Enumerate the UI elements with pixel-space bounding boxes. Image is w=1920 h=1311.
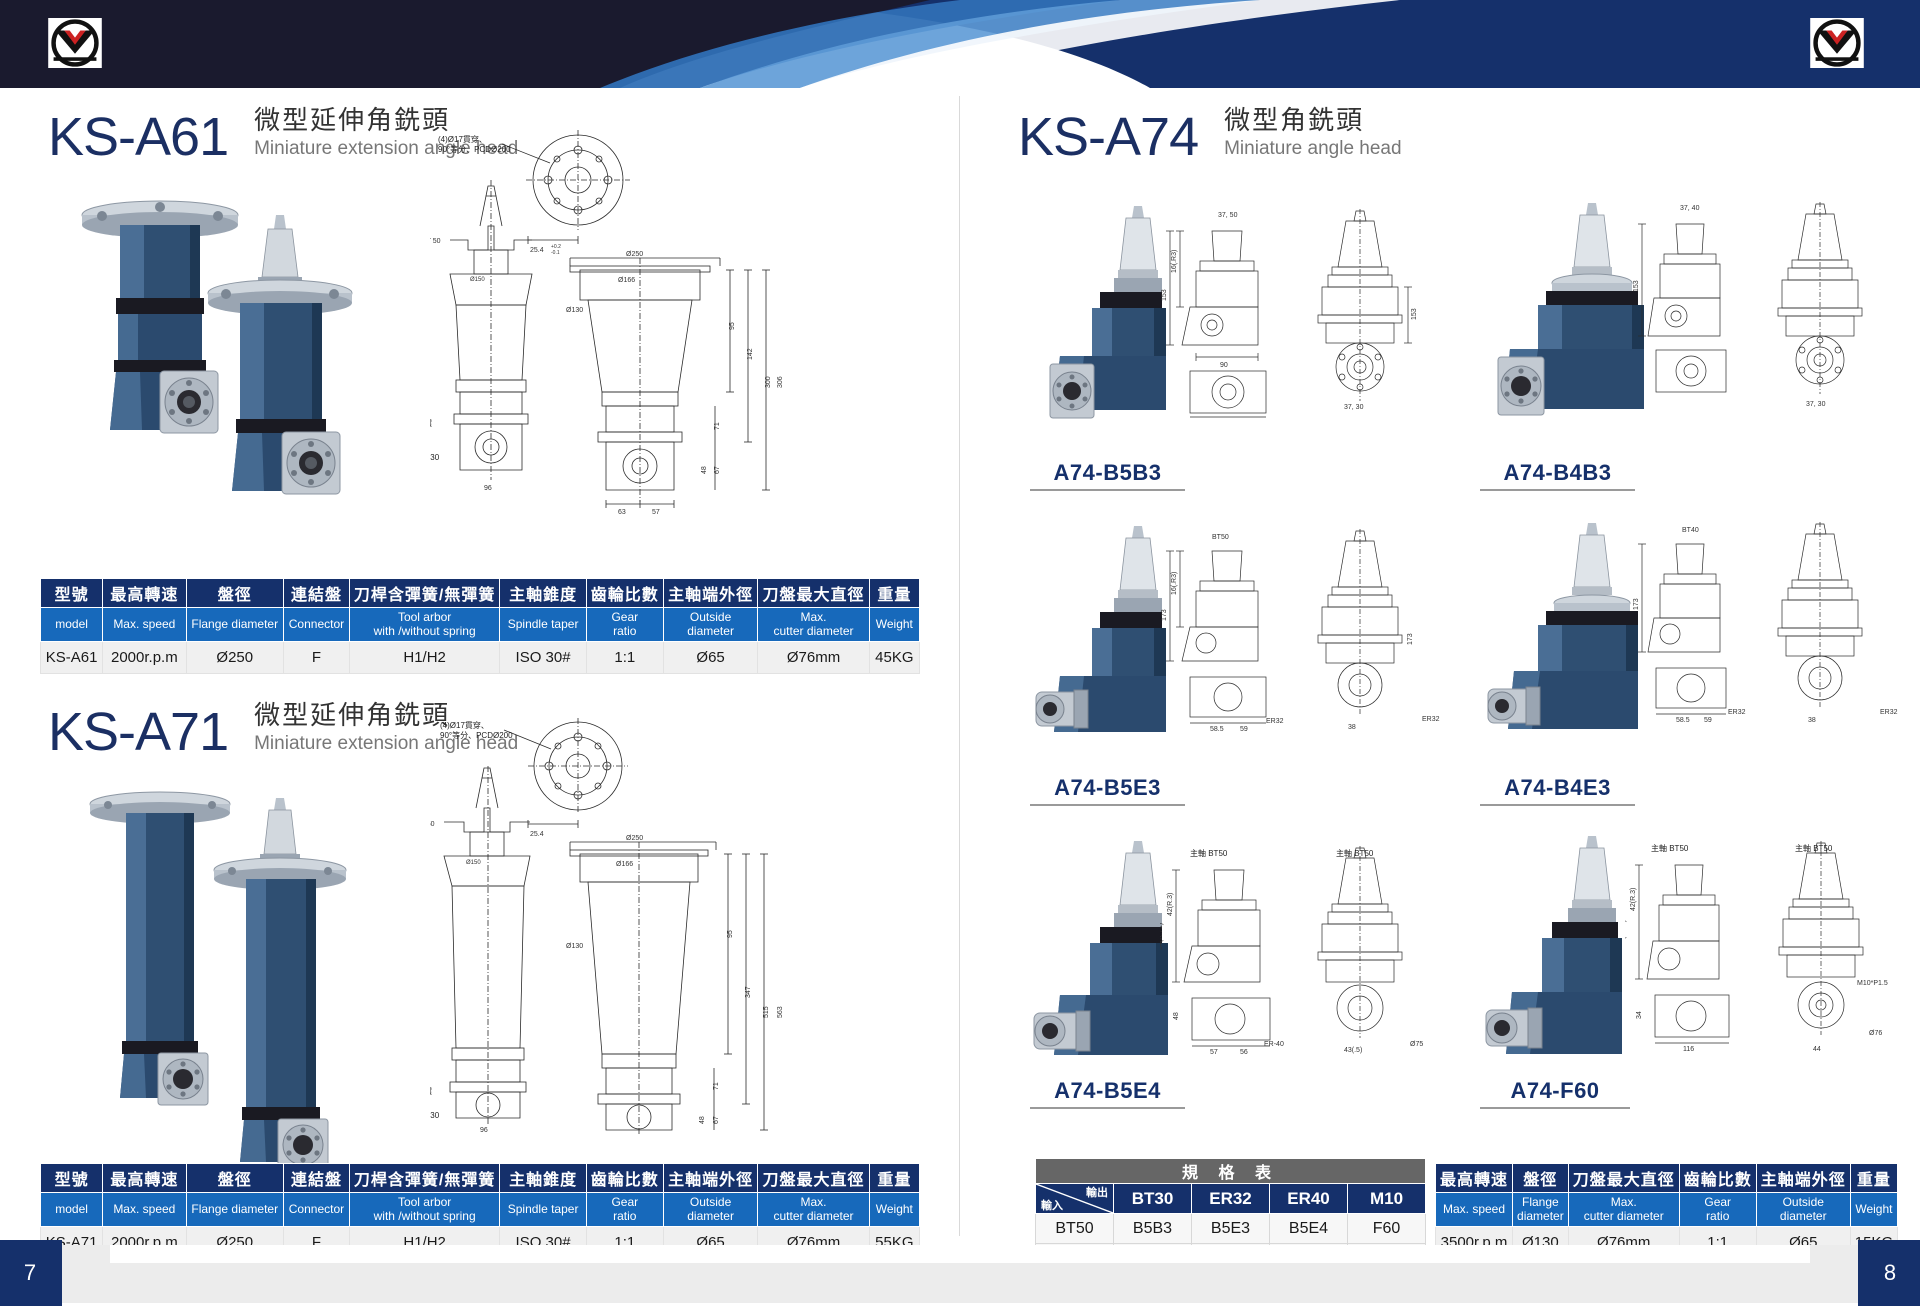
- spec-row-headers-cn: 型號 最高轉速 盤徑 連結盤 刀桿含彈簧/無彈簧 主軸錐度 齒輪比數 主軸端外徑…: [41, 1164, 920, 1193]
- svg-text:54(R.71): 54(R.71): [1625, 920, 1627, 947]
- th-en-weight: Weight: [1850, 1193, 1897, 1227]
- svg-text:563: 563: [777, 1006, 784, 1018]
- matrix-title-row: 規 格 表: [1036, 1159, 1426, 1184]
- svg-text:37, 30: 37, 30: [1344, 404, 1364, 411]
- th-cn-toolarbor: 刀桿含彈簧/無彈簧: [349, 1164, 499, 1193]
- spec-row-headers-en: model Max. speed Flange diameter Connect…: [41, 608, 920, 642]
- spec-row-headers-cn: 型號 最高轉速 盤徑 連結盤 刀桿含彈簧/無彈簧 主軸錐度 齒輪比數 主軸端外徑…: [41, 579, 920, 608]
- chevron-logo-icon: [48, 18, 102, 68]
- svg-text:BT50: BT50: [1212, 534, 1229, 541]
- svg-text:153: 153: [1161, 289, 1168, 301]
- svg-text:主軸 BT50: 主軸 BT50: [1336, 848, 1374, 858]
- spec-table-ks-a61: 型號 最高轉速 盤徑 連結盤 刀桿含彈簧/無彈簧 主軸錐度 齒輪比數 主軸端外徑…: [40, 578, 920, 674]
- svg-text:37, 40: 37, 40: [1680, 205, 1700, 212]
- figure-ks-a71-photos: [40, 780, 440, 1170]
- th-en-taper: Spindle taper: [500, 1193, 586, 1227]
- svg-text:(4)Ø17貫穿、: (4)Ø17貫穿、: [440, 720, 489, 730]
- figure-ks-a61-drawings: (4)Ø17貫穿、 90°等分、PCDØ200 25.4 +0.2 -0.1: [430, 130, 840, 550]
- svg-text:59: 59: [1704, 717, 1712, 724]
- matrix-cell: B5E4: [1270, 1214, 1348, 1244]
- th-en-connector: Connector: [283, 1193, 349, 1227]
- svg-text:38: 38: [1348, 724, 1356, 731]
- matrix-corner-input: 輸入: [1041, 1197, 1063, 1213]
- svg-text:BT40: BT40: [1682, 527, 1699, 534]
- th-cn-weight: 重量: [869, 1164, 919, 1193]
- matrix-title: 規 格 表: [1036, 1159, 1426, 1184]
- page-divider: [959, 96, 960, 1236]
- product-code: KS-A71: [48, 705, 228, 759]
- matrix-header-row: 輸出 輸入 BT30 ER32 ER40 M10: [1036, 1184, 1426, 1214]
- footer-white-band: [110, 1245, 1810, 1263]
- th-cn-model: 型號: [41, 1164, 103, 1193]
- note-hole-1: (4)Ø17貫穿、: [438, 134, 487, 144]
- svg-text:56: 56: [1240, 1049, 1248, 1056]
- spec-row-headers-en: Max. speed Flange diameter Max. cutter d…: [1436, 1193, 1898, 1227]
- th-en-cutterdia: Max. cutter diameter: [758, 608, 869, 642]
- svg-text:ER-40: ER-40: [1264, 1041, 1284, 1048]
- svg-text:347: 347: [745, 986, 752, 998]
- brand-logo-right: [1810, 18, 1864, 68]
- th-cn-maxspeed: 最高轉速: [1436, 1164, 1513, 1193]
- svg-text:306: 306: [777, 376, 784, 388]
- svg-text:67: 67: [714, 466, 721, 474]
- th-cn-connector: 連結盤: [283, 579, 349, 608]
- svg-text:M10*P1.5: M10*P1.5: [1857, 980, 1888, 987]
- svg-text:37, 30: 37, 30: [1806, 401, 1826, 408]
- th-cn-flange: 盤徑: [1513, 1164, 1569, 1193]
- svg-text:173: 173: [1161, 609, 1168, 621]
- svg-text:34: 34: [1636, 1011, 1643, 1019]
- svg-text:42(R.3): 42(R.3): [1630, 888, 1637, 911]
- svg-text:Ø76: Ø76: [1869, 1030, 1882, 1037]
- svg-text:90°等分、PCDØ200: 90°等分、PCDØ200: [440, 730, 513, 740]
- page-number-right: 8: [1858, 1240, 1920, 1306]
- svg-text:59: 59: [1240, 726, 1248, 733]
- svg-text:58.5: 58.5: [1676, 717, 1690, 724]
- th-en-toolarbor: Tool arbor with /without spring: [349, 608, 499, 642]
- th-en-maxspeed: Max. speed: [103, 1193, 186, 1227]
- th-en-flange: Flange diameter: [186, 1193, 283, 1227]
- th-en-model: model: [41, 608, 103, 642]
- td-connector: F: [283, 642, 349, 674]
- td-outside: Ø65: [663, 642, 758, 674]
- td-flange: Ø250: [186, 642, 283, 674]
- svg-text:-0.1: -0.1: [551, 250, 560, 256]
- svg-text:300: 300: [765, 376, 772, 388]
- product-code: KS-A74: [1018, 110, 1198, 164]
- matrix-cell: B5B3: [1114, 1214, 1192, 1244]
- svg-text:57: 57: [652, 509, 660, 516]
- svg-text:16(.R3): 16(.R3): [1171, 250, 1178, 273]
- svg-text:Ø75: Ø75: [1410, 1041, 1423, 1048]
- th-en-connector: Connector: [283, 608, 349, 642]
- th-cn-toolarbor: 刀桿含彈簧/無彈簧: [349, 579, 499, 608]
- svg-text:主軸BT 30: 主軸BT 30: [430, 1110, 440, 1120]
- matrix-col-er40: ER40: [1270, 1184, 1348, 1214]
- svg-text:刻度環: 刻度環: [430, 1086, 432, 1096]
- th-cn-gearratio: 齒輪比數: [586, 1164, 663, 1193]
- svg-text:Ø166: Ø166: [616, 861, 633, 868]
- th-en-model: model: [41, 1193, 103, 1227]
- th-en-gearratio: Gear ratio: [586, 1193, 663, 1227]
- matrix-corner-output: 輸出: [1086, 1184, 1108, 1200]
- spec-row-headers-cn: 最高轉速 盤徑 刀盤最大直徑 齒輪比數 主軸端外徑 重量: [1436, 1164, 1898, 1193]
- product-name-cn: 微型角銑頭: [1224, 105, 1401, 136]
- figure-a74-b5b3-drawings: 37, 50 16(.R3) 153 90 153 37, 30: [1160, 205, 1485, 420]
- product-code: KS-A61: [48, 110, 228, 164]
- svg-text:Ø130: Ø130: [566, 307, 583, 314]
- svg-text:43(.5): 43(.5): [1344, 1047, 1362, 1054]
- th-en-gearratio: Gear ratio: [586, 608, 663, 642]
- svg-text:Ø150: Ø150: [466, 860, 481, 866]
- svg-text:48: 48: [701, 466, 708, 474]
- svg-text:BT 50: BT 50: [430, 238, 441, 245]
- svg-text:173: 173: [1633, 598, 1640, 610]
- figure-a74-f60-drawings: 主軸 BT50 42(R.3) 54(R.71) 116 34 主軸 BT50 …: [1625, 835, 1920, 1065]
- matrix-row-bt50: BT50 B5B3 B5E3 B5E4 F60: [1036, 1214, 1426, 1244]
- th-en-weight: Weight: [869, 608, 919, 642]
- matrix-corner-cell: 輸出 輸入: [1036, 1184, 1114, 1214]
- spec-row-headers-en: model Max. speed Flange diameter Connect…: [41, 1193, 920, 1227]
- svg-text:BT 50: BT 50: [430, 821, 435, 828]
- th-cn-flange: 盤徑: [186, 1164, 283, 1193]
- variant-label-a74-b5e3: A74-B5E3: [1030, 775, 1185, 809]
- svg-text:16(.R3): 16(.R3): [1171, 572, 1178, 595]
- svg-text:42(R.3): 42(R.3): [1167, 893, 1174, 916]
- svg-text:48: 48: [1173, 1012, 1180, 1020]
- figure-a74-b4e3-drawings: BT40 173 58.5 59 ER32 38 ER32: [1630, 520, 1920, 740]
- th-cn-outside: 主軸端外徑: [1756, 1164, 1850, 1193]
- figure-a74-b5e4-drawings: 主軸 BT50 42(R.3) 54(R.71) 57 56 ER-40 48 …: [1160, 840, 1485, 1065]
- th-en-cutterdia: Max. cutter diameter: [758, 1193, 869, 1227]
- svg-text:96: 96: [484, 485, 492, 492]
- th-cn-weight: 重量: [1850, 1164, 1897, 1193]
- td-cutterdia: Ø76mm: [758, 642, 869, 674]
- th-cn-cutterdia: 刀盤最大直徑: [758, 579, 869, 608]
- svg-text:153: 153: [1633, 280, 1640, 292]
- variant-label-a74-b4e3: A74-B4E3: [1480, 775, 1635, 809]
- svg-text:116: 116: [1683, 1046, 1694, 1053]
- svg-text:主軸 BT50: 主軸 BT50: [1190, 848, 1228, 858]
- th-en-cutterdia: Max. cutter diameter: [1568, 1193, 1679, 1227]
- td-taper: ISO 30#: [500, 642, 586, 674]
- td-model: KS-A61: [41, 642, 103, 674]
- svg-text:71: 71: [713, 1082, 720, 1090]
- th-en-gearratio: Gear ratio: [1679, 1193, 1756, 1227]
- svg-text:63: 63: [618, 509, 626, 516]
- td-toolarbor: H1/H2: [349, 642, 499, 674]
- svg-text:173: 173: [1407, 633, 1414, 645]
- note-hole-2: 90°等分、PCDØ200: [438, 144, 511, 154]
- th-cn-maxspeed: 最高轉速: [103, 1164, 186, 1193]
- variant-label-a74-b5b3: A74-B5B3: [1030, 460, 1185, 494]
- matrix-col-m10: M10: [1348, 1184, 1426, 1214]
- page-number-left: 7: [0, 1240, 62, 1306]
- figure-a74-b5e3-drawings: BT50 16(.R3) 173 58.5 59 ER32 173 38 ER3…: [1160, 525, 1485, 740]
- svg-text:Ø166: Ø166: [618, 277, 635, 284]
- svg-text:ER32: ER32: [1422, 716, 1440, 723]
- td-gearratio: 1:1: [586, 642, 663, 674]
- matrix-col-bt30: BT30: [1114, 1184, 1192, 1214]
- svg-text:Ø250: Ø250: [626, 251, 643, 258]
- svg-text:67: 67: [713, 1116, 720, 1124]
- th-cn-outside: 主軸端外徑: [663, 579, 758, 608]
- th-en-outside: Outside diameter: [663, 1193, 758, 1227]
- th-cn-taper: 主軸錐度: [500, 1164, 586, 1193]
- th-cn-flange: 盤徑: [186, 579, 283, 608]
- variant-label-a74-b4b3: A74-B4B3: [1480, 460, 1635, 494]
- th-en-flange: Flange diameter: [186, 608, 283, 642]
- svg-text:90: 90: [1220, 362, 1228, 369]
- th-cn-model: 型號: [41, 579, 103, 608]
- th-cn-maxspeed: 最高轉速: [103, 579, 186, 608]
- svg-text:44: 44: [1813, 1046, 1821, 1053]
- svg-text:Ø250: Ø250: [626, 835, 643, 842]
- catalog-page: KS-A61 微型延伸角銑頭 Miniature extension angle…: [0, 0, 1920, 1311]
- svg-text:95: 95: [727, 930, 734, 938]
- svg-text:Ø130: Ø130: [566, 943, 583, 950]
- top-banner: [0, 0, 1920, 88]
- svg-text:25.4: 25.4: [530, 831, 544, 838]
- figure-ks-a61-photos: [40, 185, 440, 565]
- th-cn-gearratio: 齒輪比數: [586, 579, 663, 608]
- svg-text:48: 48: [699, 1116, 706, 1124]
- brand-logo-left: [48, 18, 102, 68]
- matrix-cell: F60: [1348, 1214, 1426, 1244]
- th-en-weight: Weight: [869, 1193, 919, 1227]
- svg-text:ER32: ER32: [1880, 709, 1898, 716]
- matrix-row-input: BT50: [1036, 1214, 1114, 1244]
- svg-text:142: 142: [747, 348, 754, 360]
- svg-text:Ø150: Ø150: [470, 277, 485, 283]
- th-en-maxspeed: Max. speed: [103, 608, 186, 642]
- svg-text:57: 57: [1210, 1049, 1218, 1056]
- th-cn-connector: 連結盤: [283, 1164, 349, 1193]
- svg-text:37, 50: 37, 50: [1218, 212, 1238, 219]
- figure-ks-a71-drawings: (4)Ø17貫穿、 90°等分、PCDØ200 25.4 BT 50 Ø150 …: [430, 718, 840, 1138]
- svg-text:ER32: ER32: [1728, 709, 1746, 716]
- th-en-toolarbor: Tool arbor with /without spring: [349, 1193, 499, 1227]
- th-en-taper: Spindle taper: [500, 608, 586, 642]
- svg-text:刻度環: 刻度環: [430, 418, 432, 428]
- product-name-en: Miniature angle head: [1224, 136, 1401, 162]
- th-cn-cutterdia: 刀盤最大直徑: [758, 1164, 869, 1193]
- th-en-flange: Flange diameter: [1513, 1193, 1569, 1227]
- th-cn-taper: 主軸錐度: [500, 579, 586, 608]
- matrix-col-er32: ER32: [1192, 1184, 1270, 1214]
- figure-a74-b4b3-drawings: 37, 40 153 37, 30: [1630, 200, 1920, 420]
- th-cn-weight: 重量: [869, 579, 919, 608]
- td-weight: 45KG: [869, 642, 919, 674]
- variant-label-a74-b5e4: A74-B5E4: [1030, 1078, 1185, 1112]
- svg-text:71: 71: [714, 422, 721, 430]
- svg-text:主軸 BT50: 主軸 BT50: [1651, 843, 1689, 853]
- variant-label-a74-f60: A74-F60: [1480, 1078, 1630, 1112]
- th-en-maxspeed: Max. speed: [1436, 1193, 1513, 1227]
- svg-text:38: 38: [1808, 717, 1816, 724]
- product-heading-ks-a74: KS-A74 微型角銑頭 Miniature angle head: [1018, 105, 1402, 164]
- svg-text:主軸BT 30: 主軸BT 30: [430, 452, 440, 462]
- th-en-outside: Outside diameter: [1756, 1193, 1850, 1227]
- svg-text:ER32: ER32: [1266, 718, 1284, 725]
- spec-row-values: KS-A61 2000r.p.m Ø250 F H1/H2 ISO 30# 1:…: [41, 642, 920, 674]
- svg-text:54(R.71): 54(R.71): [1160, 923, 1164, 950]
- svg-text:515: 515: [763, 1006, 770, 1018]
- th-cn-cutterdia: 刀盤最大直徑: [1568, 1164, 1679, 1193]
- svg-text:153: 153: [1411, 308, 1418, 320]
- svg-text:95: 95: [729, 322, 736, 330]
- th-cn-outside: 主軸端外徑: [663, 1164, 758, 1193]
- svg-text:96: 96: [480, 1127, 488, 1134]
- td-maxspeed: 2000r.p.m: [103, 642, 186, 674]
- matrix-cell: B5E3: [1192, 1214, 1270, 1244]
- chevron-logo-icon: [1810, 18, 1864, 68]
- th-cn-gearratio: 齒輪比數: [1679, 1164, 1756, 1193]
- th-en-outside: Outside diameter: [663, 608, 758, 642]
- svg-text:主軸 BT50: 主軸 BT50: [1795, 843, 1833, 853]
- svg-text:58.5: 58.5: [1210, 726, 1224, 733]
- svg-text:25.4: 25.4: [530, 247, 544, 254]
